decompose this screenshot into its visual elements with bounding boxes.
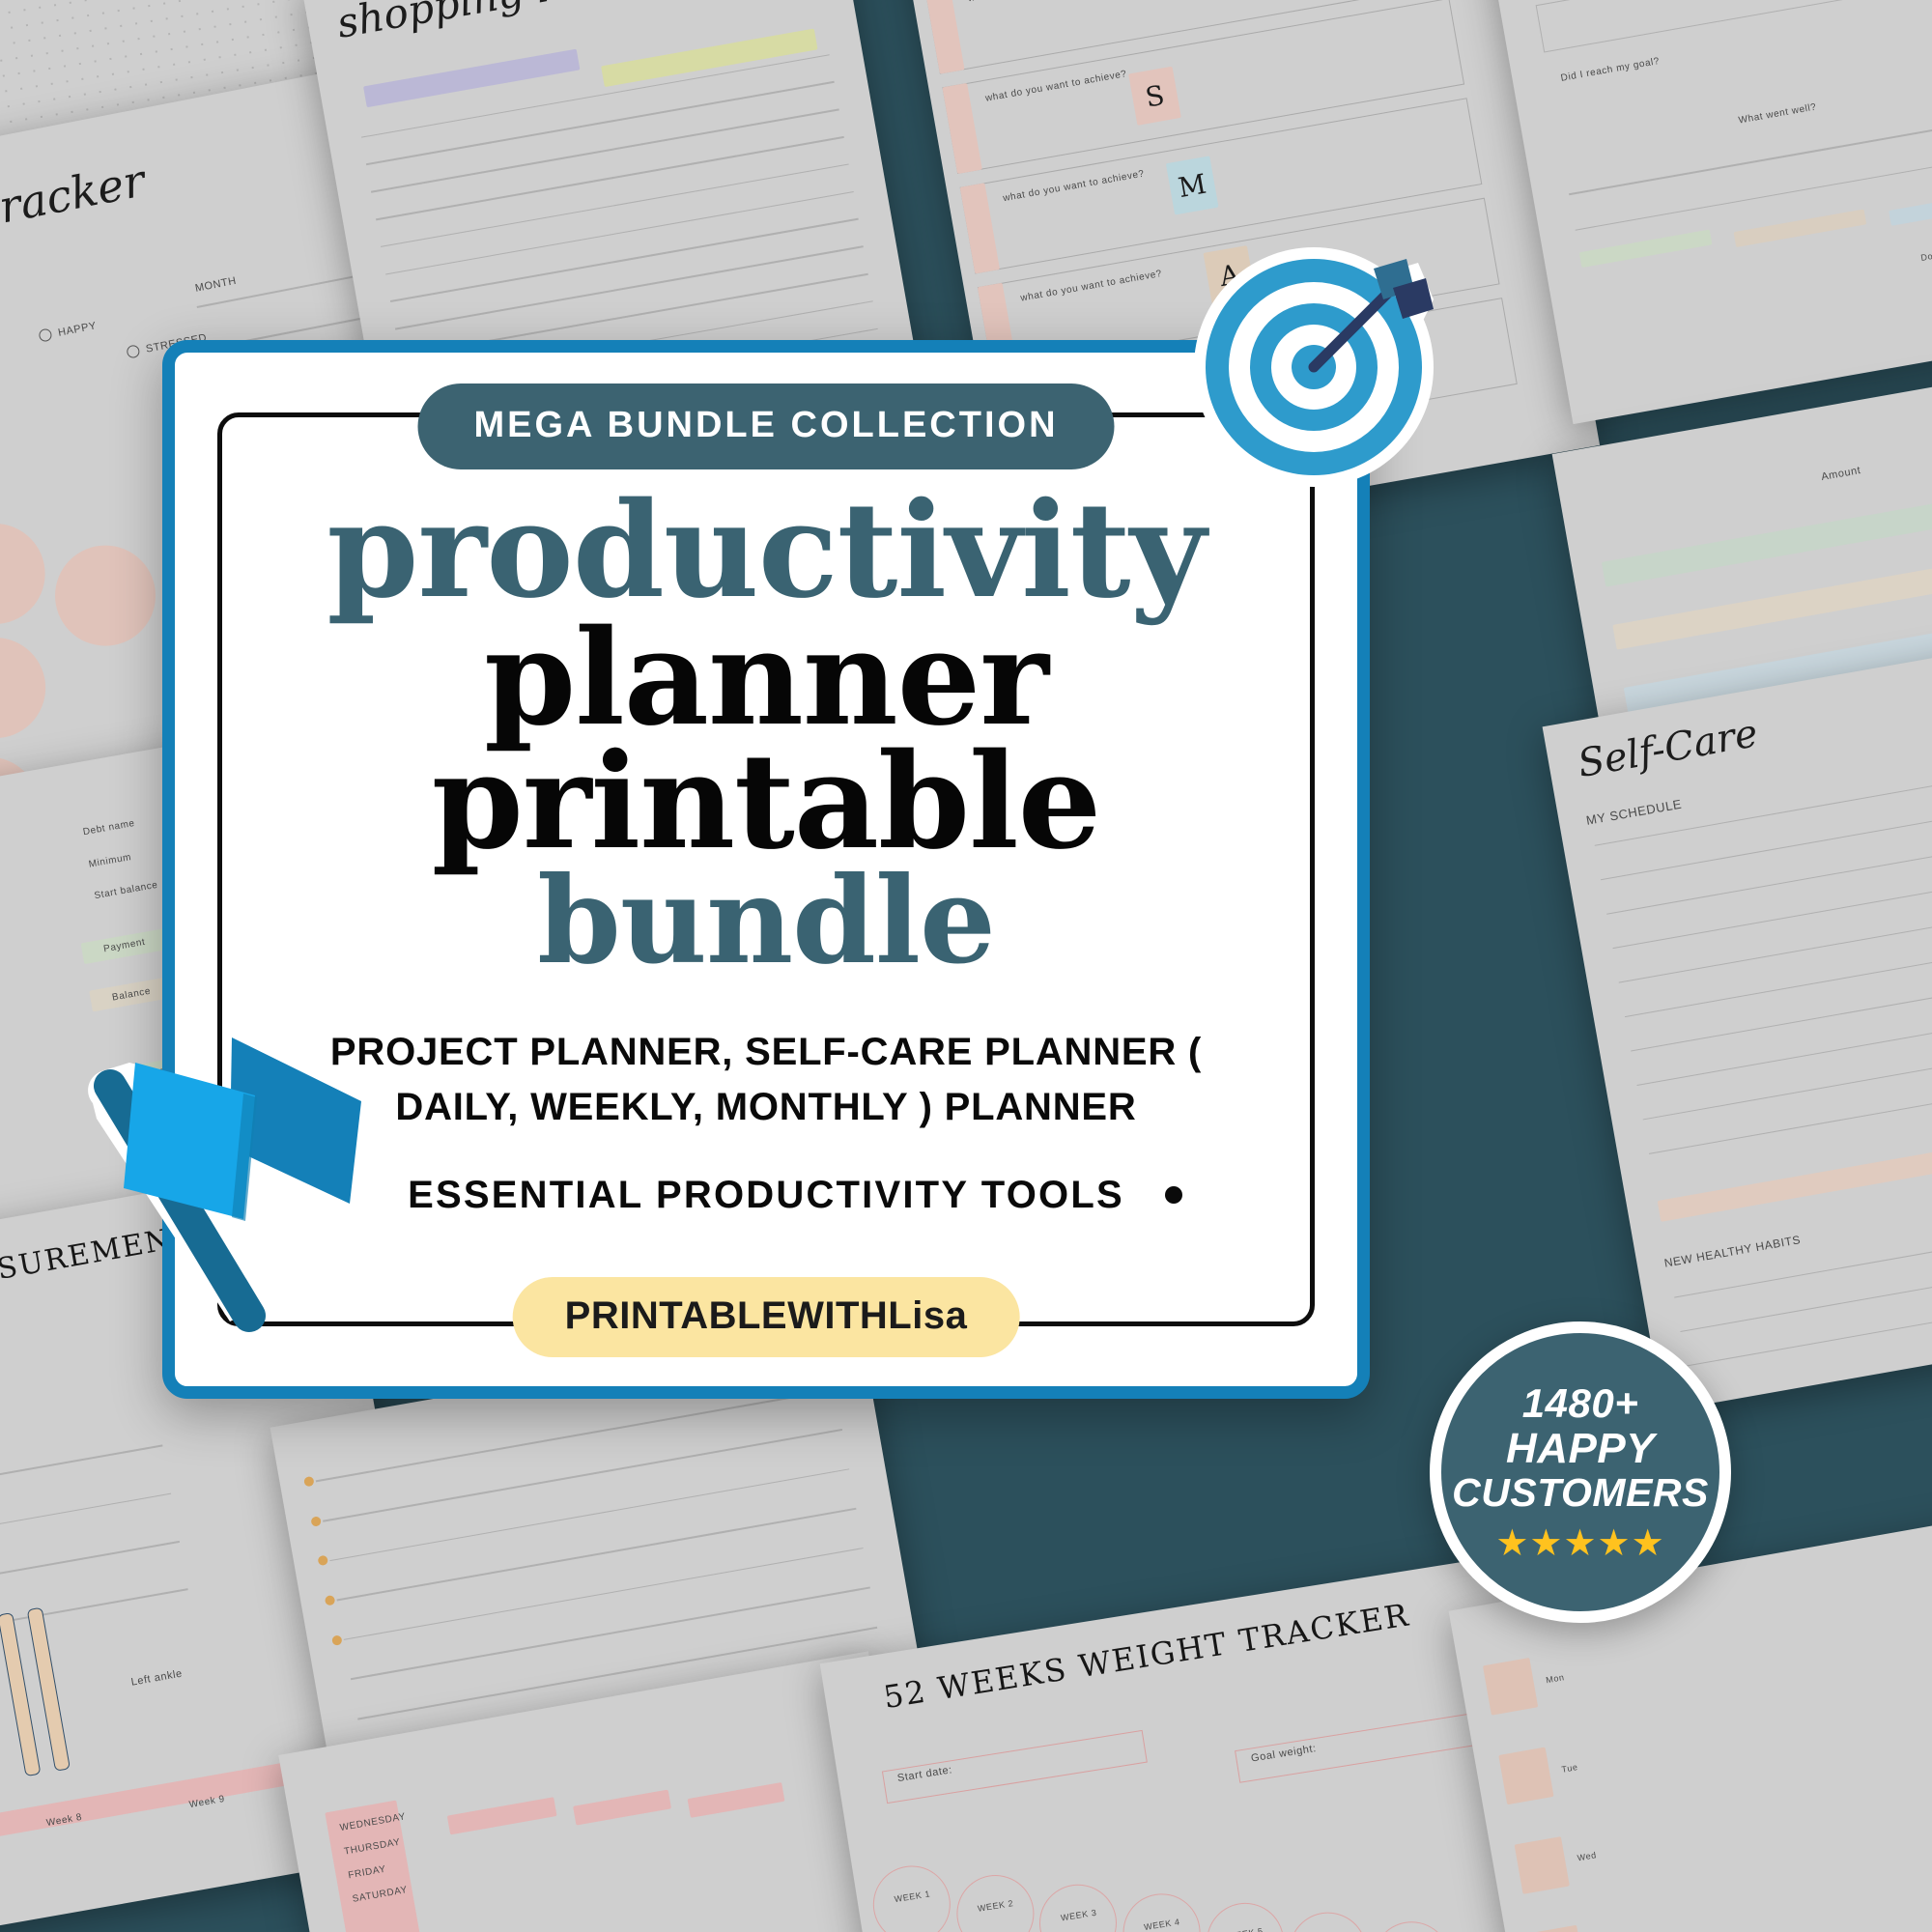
headline-block: productivity planner printable bundle — [175, 490, 1357, 979]
tools-row: ESSENTIAL PRODUCTIVITY TOOLS — [350, 1174, 1182, 1217]
goal-review-field: Did I reach my goal? — [1560, 56, 1661, 84]
gratitude-day: Wed — [1577, 1850, 1598, 1862]
flag-icon — [60, 989, 398, 1337]
mood-tracker-title: Mood Tracker — [0, 155, 149, 267]
target-bullseye-icon — [1190, 230, 1451, 491]
gratitude-day: Mon — [1545, 1672, 1565, 1685]
headline-line-1: productivity — [175, 490, 1357, 613]
smart-letter-m: M — [1166, 156, 1219, 214]
customer-customers-label: CUSTOMERS — [1452, 1472, 1709, 1514]
headline-line-3: bundle — [175, 866, 1357, 979]
shopping-list-title: shopping list — [333, 0, 602, 47]
smart-letter-label: S — [1143, 78, 1167, 113]
bullet-dot-right-icon — [1165, 1186, 1182, 1204]
sheet-self-care: Self-Care MY SCHEDULE NEW HEALTHY HABITS — [1543, 637, 1932, 1412]
smart-letter-s: S — [1128, 67, 1181, 126]
budget-field-amount: Amount — [1820, 465, 1861, 483]
self-care-title: Self-Care — [1575, 711, 1761, 786]
goal-review-field: What went well? — [1738, 101, 1817, 126]
smart-letter-label: M — [1176, 167, 1208, 203]
happy-customers-badge: 1480+ HAPPY CUSTOMERS ★★★★★ — [1430, 1321, 1731, 1623]
mega-bundle-badge: MEGA BUNDLE COLLECTION — [417, 384, 1114, 469]
subtitle-text: PROJECT PLANNER, SELF-CARE PLANNER ( DAI… — [269, 1025, 1264, 1135]
debt-field: Debt name — [82, 818, 135, 838]
customer-happy-label: HAPPY — [1506, 1427, 1655, 1472]
mood-option-happy: HAPPY — [57, 320, 98, 338]
customer-count: 1480+ — [1522, 1382, 1638, 1426]
gratitude-day: Tue — [1561, 1762, 1578, 1775]
weight-tracker-title: 52 WEEKS WEIGHT TRACKER — [881, 1596, 1412, 1716]
brand-badge: PRINTABLEWITHLisa — [513, 1277, 1020, 1357]
measure-label: Left ankle — [130, 1667, 184, 1688]
debt-field: Minimum — [88, 852, 132, 870]
self-care-my-schedule: MY SCHEDULE — [1585, 797, 1683, 828]
star-rating-icon: ★★★★★ — [1495, 1525, 1664, 1562]
brand-badge-wrap: PRINTABLEWITHLisa — [513, 1277, 1020, 1357]
goal-review-field: Do Less of... — [1920, 243, 1932, 263]
headline-line-2: planner printable — [175, 617, 1357, 865]
mood-month-label: MONTH — [194, 275, 238, 295]
tools-label: ESSENTIAL PRODUCTIVITY TOOLS — [408, 1174, 1124, 1217]
self-care-healthy-habits: NEW HEALTHY HABITS — [1663, 1233, 1802, 1270]
debt-field: Start balance — [94, 880, 159, 901]
